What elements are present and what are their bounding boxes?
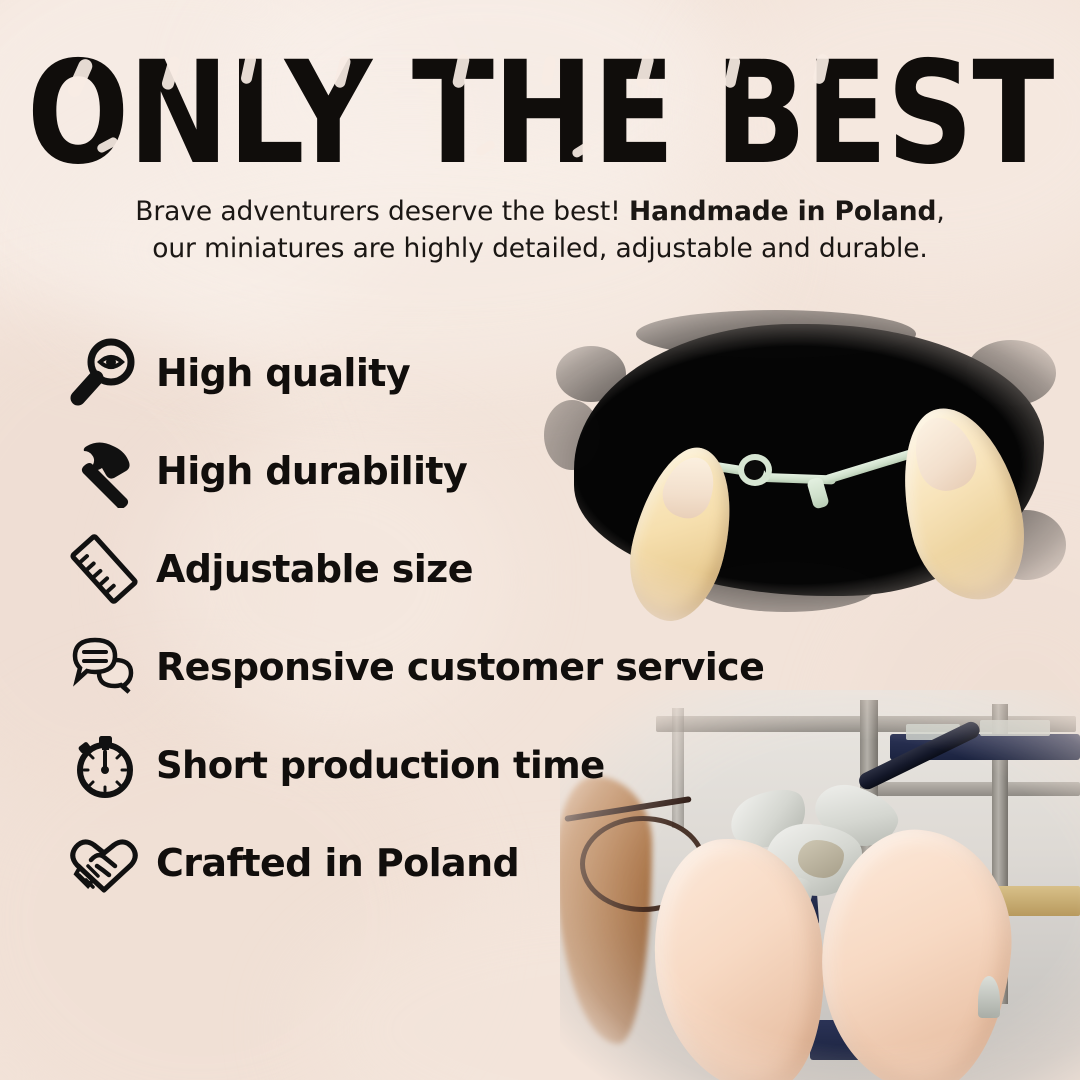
magnifier-eye-icon bbox=[62, 331, 146, 415]
page-title: ONLY THE BEST bbox=[27, 42, 1054, 184]
subtitle-tail: , bbox=[936, 196, 944, 227]
subtitle-lead: Brave adventurers deserve the best! bbox=[135, 196, 629, 227]
speech-bubbles-icon bbox=[62, 625, 146, 709]
header: ONLY THE BEST Brave adventurers deserve … bbox=[0, 42, 1080, 267]
feature-item: Crafted in Poland bbox=[62, 814, 782, 912]
shelf-miniature bbox=[978, 976, 1000, 1018]
subtitle-line2: our miniatures are highly detailed, adju… bbox=[152, 233, 928, 264]
title-wrap: ONLY THE BEST bbox=[37, 42, 1043, 160]
feature-item: Adjustable size bbox=[62, 520, 782, 618]
feature-item: Responsive customer service bbox=[62, 618, 782, 716]
subtitle-bold: Handmade in Poland bbox=[629, 196, 936, 227]
ruler-icon bbox=[62, 527, 146, 611]
feature-label: Crafted in Poland bbox=[156, 841, 519, 885]
feature-item: Short production time bbox=[62, 716, 782, 814]
tray-miniature bbox=[980, 720, 1050, 736]
feature-item: High quality bbox=[62, 324, 782, 422]
feature-label: High durability bbox=[156, 449, 467, 493]
feature-list: High quality High durability bbox=[62, 324, 782, 912]
feature-label: Short production time bbox=[156, 744, 605, 787]
heart-handshake-icon bbox=[62, 821, 146, 905]
feature-label: Responsive customer service bbox=[156, 645, 764, 689]
stopwatch-icon bbox=[62, 723, 146, 807]
subtitle: Brave adventurers deserve the best! Hand… bbox=[0, 194, 1080, 267]
feature-label: High quality bbox=[156, 351, 410, 395]
feature-label: Adjustable size bbox=[156, 547, 473, 591]
feature-item: High durability bbox=[62, 422, 782, 520]
poster-canvas: ONLY THE BEST Brave adventurers deserve … bbox=[0, 0, 1080, 1080]
photo-edge-speck bbox=[966, 340, 1056, 406]
hammer-icon bbox=[62, 429, 146, 513]
